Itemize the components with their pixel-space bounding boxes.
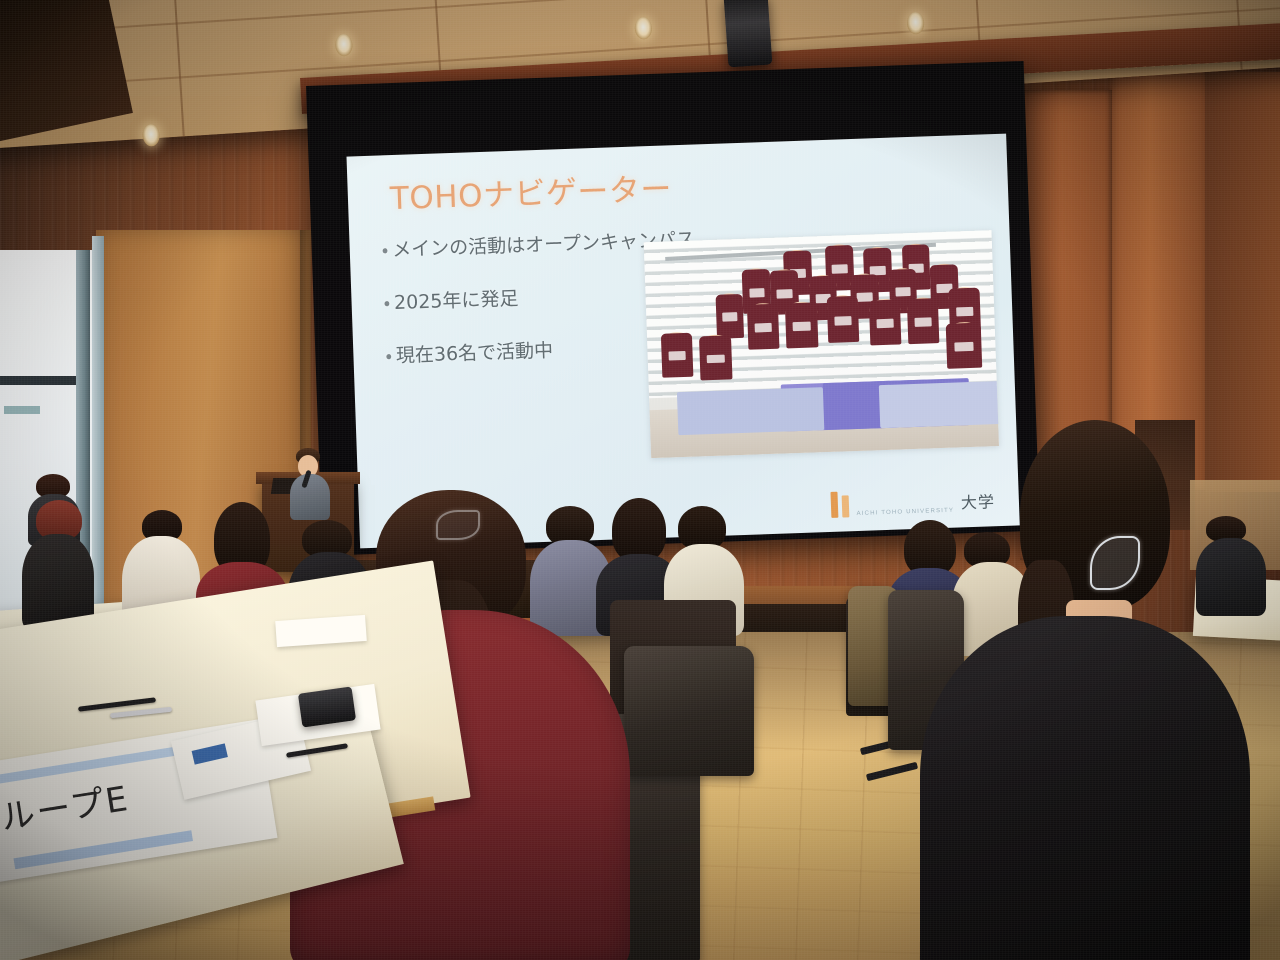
- window-mullion-horizontal: [0, 376, 88, 385]
- blue-label-icon: [192, 743, 228, 764]
- bullet-marker-icon: ・: [383, 292, 390, 314]
- slide-title: TOHOナビゲーター: [389, 163, 672, 218]
- slide-bullet-text: 現在36名で活動中: [396, 339, 554, 366]
- audience-member: [22, 500, 94, 620]
- slide-bullet-text: 2025年に発足: [394, 288, 519, 314]
- photo-person: [785, 301, 819, 369]
- photo-person: [869, 298, 903, 366]
- bullet-marker-icon: ・: [385, 345, 392, 367]
- bullet-marker-icon: ・: [381, 239, 388, 261]
- photo-person: [747, 302, 781, 370]
- photo-person: [827, 295, 861, 363]
- downlight-icon: [634, 17, 652, 40]
- presentation-room-photo: TOHOナビゲーター ・メインの活動はオープンキャンパス ・2025年に発足 ・…: [0, 0, 1280, 960]
- photo-person: [661, 331, 695, 397]
- logo-bars-icon: [831, 491, 850, 518]
- photo-legs: [677, 387, 825, 435]
- window-accent-strip: [4, 406, 40, 414]
- attendee-torso: [920, 616, 1250, 960]
- foreground-attendee-black: [920, 420, 1250, 960]
- projector-icon: [724, 0, 773, 67]
- photo-person: [907, 297, 941, 365]
- draped-coat: [624, 646, 754, 776]
- downlight-icon: [335, 34, 353, 57]
- slide: TOHOナビゲーター ・メインの活動はオープンキャンパス ・2025年に発足 ・…: [346, 134, 1019, 549]
- hair-clip-icon: [436, 510, 480, 540]
